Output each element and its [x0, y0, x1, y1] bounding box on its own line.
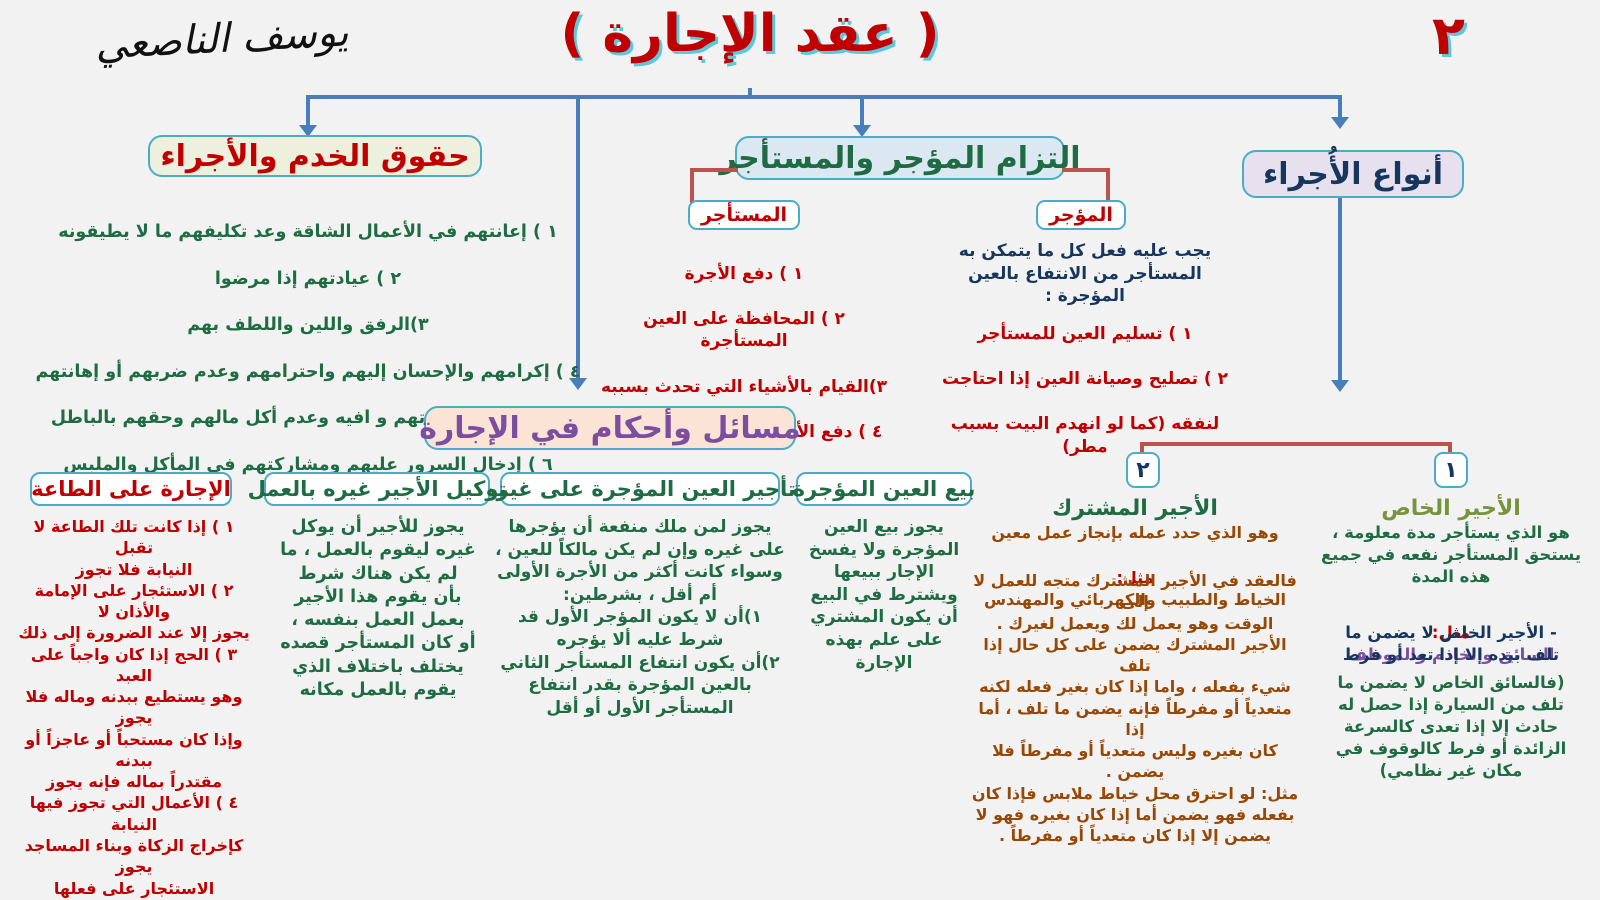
card-body-sale-of-leased-property: يجوز بيع العين المؤجرة ولا يفسخ الإجار ب…	[790, 516, 978, 674]
list-item: ٣)القيام بالأشياء التي تحدث بسببه	[600, 376, 888, 399]
badge-worker-type-2-label: ٢	[1136, 458, 1149, 483]
title-worker-type-1: الأجير الخاص	[1306, 494, 1596, 523]
arrow-to-workers	[1331, 117, 1349, 129]
diagram-canvas: ٢ ( عقد الإجارة ) يوسف الناصعي حقوق الخد…	[0, 0, 1600, 900]
rule-green-worker-type-1: (فالسائق الخاص لا يضمن ما تلف من السيارة…	[1306, 672, 1596, 782]
connector-obligations-bracket-left	[690, 168, 694, 204]
card-header-label: توكيل الأجير غيره بالعمل	[248, 477, 507, 501]
header-rulings[interactable]: مسائل وأحكام في الإجارة	[424, 406, 796, 450]
definition-worker-type-1: هو الذي يستأجر مدة معلومة ، يستحق المستأ…	[1306, 522, 1596, 588]
badge-worker-type-1: ١	[1434, 452, 1468, 488]
list-item: ١ ) إعانتهم في الأعمال الشاقة وعد تكليفه…	[18, 221, 598, 244]
card-header-hiring-for-worship[interactable]: الإجارة على الطاعة	[30, 472, 232, 506]
list-item: ٣)الرفق واللين واللطف بهم	[18, 314, 598, 337]
card-header-sale-of-leased-property[interactable]: بيع العين المؤجرة	[796, 472, 972, 506]
page-number: ٢	[1432, 4, 1465, 67]
connector-obligations-bracket-right-h	[1062, 168, 1110, 172]
page-title: ( عقد الإجارة )	[520, 6, 980, 63]
list-item: لنفقه (كما لو انهدم البيت بسبب مطر)	[940, 413, 1230, 458]
card-body-sublease: يجوز لمن ملك منفعة أن يؤجرها على غيره وإ…	[494, 516, 786, 719]
list-item: ٢ ) عيادتهم إذا مرضوا	[18, 268, 598, 291]
title-worker-type-2: الأجير المشترك	[970, 494, 1300, 523]
list-item: ١ ) دفع الأجرة	[600, 263, 888, 286]
list-item: ٢ ) المحافظة على العين المستأجرة	[600, 308, 888, 353]
header-lessee[interactable]: المستأجر	[688, 200, 800, 230]
list-item: ٤ ) إكرامهم والإحسان إليهم واحترامهم وعد…	[18, 361, 598, 384]
header-rulings-label: مسائل وأحكام في الإجارة	[419, 411, 800, 446]
card-header-delegation[interactable]: توكيل الأجير غيره بالعمل	[264, 472, 490, 506]
header-obligations[interactable]: التزام المؤجر والمستأجر	[735, 136, 1065, 180]
header-obligations-label: التزام المؤجر والمستأجر	[720, 141, 1081, 176]
connector-workertypes-bar	[1140, 442, 1452, 446]
lessor-intro: يجب عليه فعل كل ما يتمكن به المستأجر من …	[940, 240, 1230, 308]
definition-worker-type-2: وهو الذي حدد عمله بإنجاز عمل معين	[970, 522, 1300, 543]
author-signature: يوسف الناصعي	[94, 9, 350, 68]
card-header-label: تأجير العين المؤجرة على غيره	[484, 477, 796, 501]
header-lessee-label: المستأجر	[701, 204, 787, 226]
arrow-workers-down	[1331, 380, 1349, 392]
rule-navy-worker-type-1: - الأجير الخاص لا يضمن ما تلف بيده إلا إ…	[1306, 622, 1596, 666]
header-worker-types-label: أنواع الأُجراء	[1263, 157, 1443, 192]
lessor-items: ١ ) تسليم العين للمستأجر ٢ ) تصليح وصيان…	[940, 300, 1230, 481]
connector-title-stub	[748, 88, 752, 98]
badge-worker-type-1-label: ١	[1444, 458, 1457, 483]
header-servants-rights[interactable]: حقوق الخدم والأجراء	[148, 135, 482, 177]
header-lessor[interactable]: المؤجر	[1036, 200, 1126, 230]
connector-obligations-bracket	[690, 168, 738, 172]
servants-items: ١ ) إعانتهم في الأعمال الشاقة وعد تكليفه…	[18, 198, 598, 500]
card-body-delegation: يجوز للأجير أن يوكل غيره ليقوم بالعمل ، …	[272, 516, 484, 702]
list-item: ٢ ) تصليح وصيانة العين إذا احتاجت	[940, 368, 1230, 391]
connector-spine-horizontal	[308, 95, 1340, 99]
card-body-hiring-for-worship: ١ ) إذا كانت تلك الطاعة لا تقبل النيابة …	[12, 516, 256, 899]
header-servants-rights-label: حقوق الخدم والأجراء	[160, 139, 469, 174]
header-worker-types[interactable]: أنواع الأُجراء	[1242, 150, 1464, 198]
card-header-label: بيع العين المؤجرة	[793, 477, 976, 501]
header-lessor-label: المؤجر	[1049, 204, 1113, 226]
connector-obligations-bracket-right-v	[1106, 168, 1110, 204]
card-header-label: الإجارة على الطاعة	[31, 477, 231, 501]
list-item: ١ ) تسليم العين للمستأجر	[940, 323, 1230, 346]
body-worker-type-2: فالعقد في الأجير المشترك متجه للعمل لا إ…	[970, 570, 1300, 846]
connector-workers-down	[1338, 198, 1342, 386]
badge-worker-type-2: ٢	[1126, 452, 1160, 488]
card-header-sublease[interactable]: تأجير العين المؤجرة على غيره	[500, 472, 780, 506]
